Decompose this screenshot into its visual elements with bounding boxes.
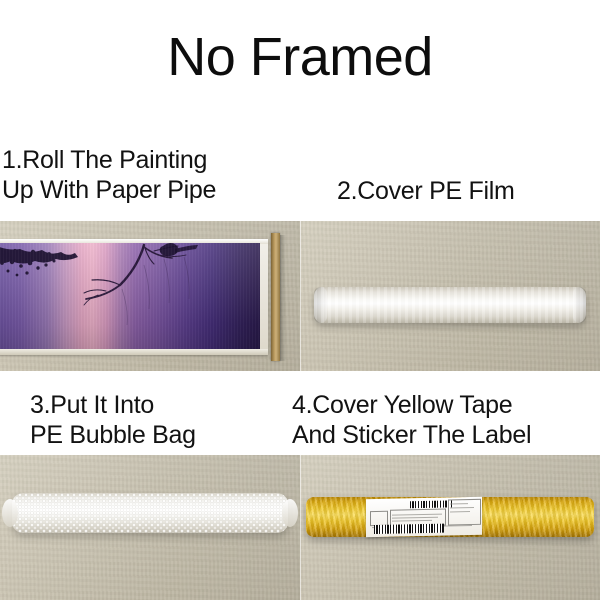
bag-end-left xyxy=(2,499,18,527)
roll-end-right xyxy=(573,287,586,323)
paper-pipe xyxy=(271,233,280,361)
barcode-icon xyxy=(374,524,444,534)
step-1-caption: 1.Roll The Painting Up With Paper Pipe xyxy=(2,145,216,205)
painting-artwork xyxy=(0,243,260,351)
step-2-caption: 2.Cover PE Film xyxy=(337,176,514,206)
bag-end-right xyxy=(282,499,298,527)
step-2-caption-line-1: 2.Cover PE Film xyxy=(337,176,514,206)
step-1-photo xyxy=(0,221,300,371)
step-4-caption-line-2: And Sticker The Label xyxy=(292,420,531,450)
step-1-caption-line-1: 1.Roll The Painting xyxy=(2,145,216,175)
step-3-caption-line-1: 3.Put It Into xyxy=(30,390,196,420)
roll-end-left xyxy=(314,287,327,323)
packaging-instruction-graphic: No Framed 1.Roll The Painting Up With Pa… xyxy=(0,0,600,600)
canvas-frame xyxy=(0,239,268,355)
step-4-photo xyxy=(300,455,600,600)
photo-seam-bottom xyxy=(300,455,301,600)
step-2-photo xyxy=(300,221,600,371)
paper-pipe-shadow xyxy=(280,235,286,361)
step-3-photo xyxy=(0,455,300,600)
bubble-texture-offset xyxy=(12,493,288,533)
shipping-label xyxy=(366,497,482,537)
step-4-caption: 4.Cover Yellow Tape And Sticker The Labe… xyxy=(292,390,531,450)
bubble-bag-wrapped-roll xyxy=(12,493,288,533)
step-4-caption-line-1: 4.Cover Yellow Tape xyxy=(292,390,531,420)
tree-branch-silhouette-icon xyxy=(0,243,260,351)
page-title: No Framed xyxy=(0,26,600,88)
canvas-bottom-edge xyxy=(0,349,268,355)
step-3-caption: 3.Put It Into PE Bubble Bag xyxy=(30,390,196,450)
photo-seam-top xyxy=(300,221,301,371)
step-3-caption-line-2: PE Bubble Bag xyxy=(30,420,196,450)
pe-film-wrapped-roll xyxy=(314,287,586,323)
step-1-caption-line-2: Up With Paper Pipe xyxy=(2,175,216,205)
